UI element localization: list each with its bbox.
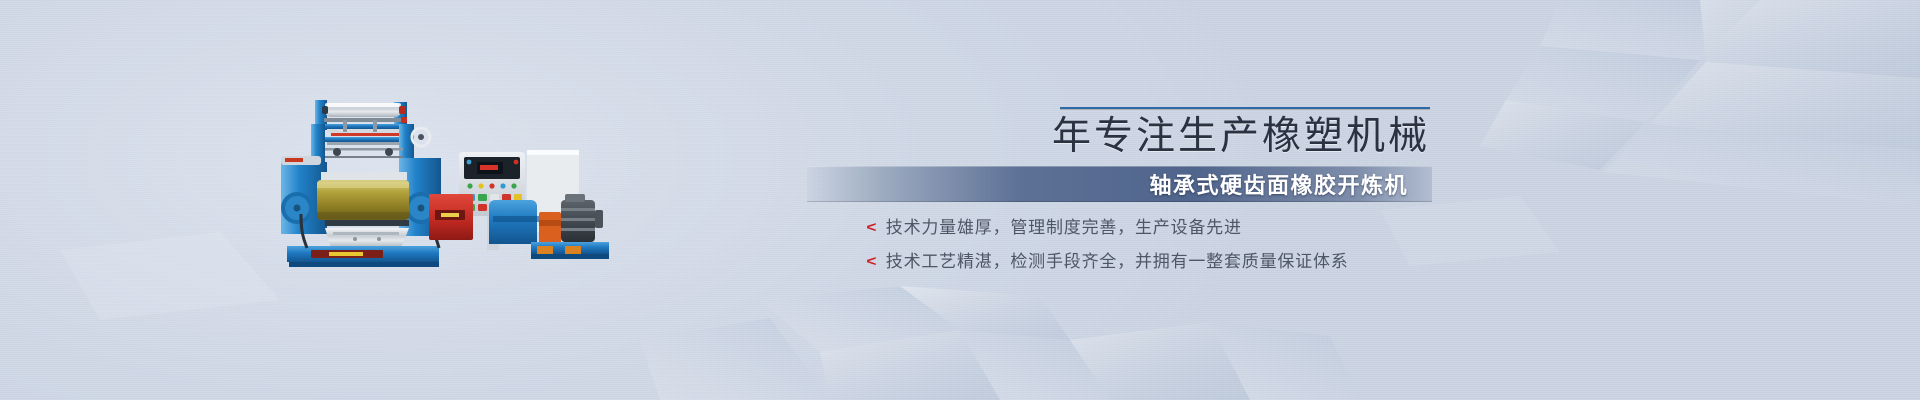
chevron-left-icon: <: [866, 220, 876, 235]
promo-banner: 年专注生产橡塑机械 轴承式硬齿面橡胶开炼机 < 技术力量雄厚，管理制度完善，生产…: [0, 0, 1920, 400]
machine-motor: [561, 194, 603, 242]
product-name-label: 轴承式硬齿面橡胶开炼机: [1149, 168, 1432, 200]
page-title: 年专注生产橡塑机械: [810, 114, 1430, 160]
chevron-left-icon: <: [866, 254, 876, 269]
banner-content: 年专注生产橡塑机械 轴承式硬齿面橡胶开炼机 < 技术力量雄厚，管理制度完善，生产…: [810, 96, 1810, 316]
heading-divider-rule: [1060, 107, 1430, 109]
machine-photo: [281, 96, 611, 268]
list-item: < 技术工艺精湛，检测手段齐全，并拥有一整套质量保证体系: [867, 253, 1487, 270]
feature-list: < 技术力量雄厚，管理制度完善，生产设备先进 < 技术工艺精湛，检测手段齐全，并…: [867, 219, 1487, 287]
machine-drip-tray: [325, 228, 409, 248]
product-name-ribbon: 轴承式硬齿面橡胶开炼机: [807, 166, 1432, 202]
machine-main-body: [281, 156, 441, 248]
list-item: < 技术力量雄厚，管理制度完善，生产设备先进: [867, 219, 1487, 236]
feature-text: 技术力量雄厚，管理制度完善，生产设备先进: [886, 219, 1242, 236]
feature-text: 技术工艺精湛，检测手段齐全，并拥有一整套质量保证体系: [886, 253, 1349, 270]
